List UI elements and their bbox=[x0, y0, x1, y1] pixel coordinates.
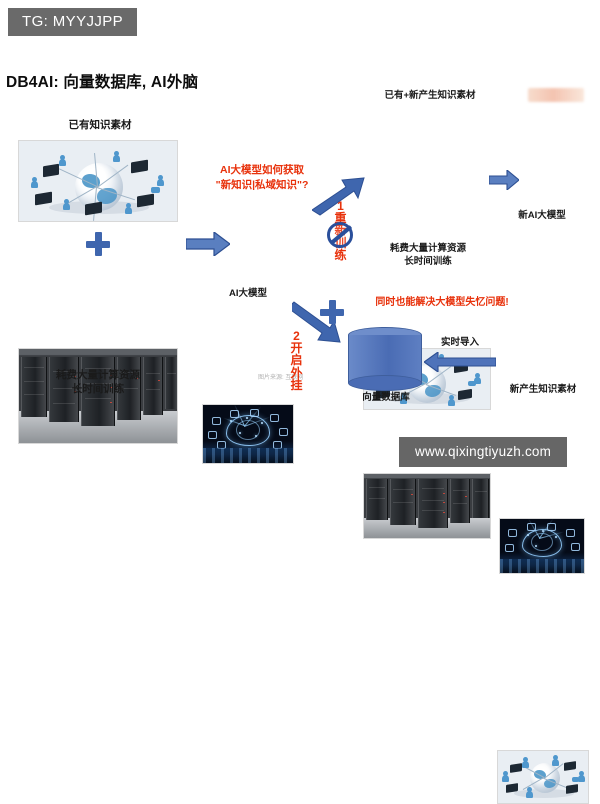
left-top-caption: 已有知识素材 bbox=[20, 118, 180, 132]
branch2-plus-symbol bbox=[320, 300, 344, 324]
left-bottom-caption: 耗费大量计算资源 长时间训练 bbox=[8, 368, 188, 396]
retrain-char-4: 练 bbox=[333, 249, 348, 261]
ai-brain-network-photo bbox=[202, 404, 294, 464]
new-ai-model-caption: 新AI大模型 bbox=[494, 210, 590, 223]
new-knowledge-network-photo bbox=[497, 750, 589, 804]
plugin-vertical-label: 2 开 启 外 挂 bbox=[289, 330, 304, 391]
arrow-left-realtime-import bbox=[424, 352, 496, 372]
branch1-top-caption: 已有+新产生知识素材 bbox=[340, 90, 520, 103]
ai-model-caption: AI大模型 bbox=[202, 288, 294, 301]
arrow-right-to-new-ai-model bbox=[489, 170, 519, 190]
slide-canvas: TG: MYYJJPP DB4AI: 向量数据库, AI外脑 已有知识素材 bbox=[0, 0, 600, 480]
branch1-server-photo bbox=[363, 473, 491, 539]
left-plus-symbol bbox=[86, 232, 110, 256]
top-right-watermark-blur bbox=[528, 88, 584, 102]
page-title: DB4AI: 向量数据库, AI外脑 bbox=[6, 70, 198, 92]
vector-database-cylinder bbox=[348, 327, 422, 391]
plugin-char-4: 挂 bbox=[289, 379, 304, 391]
memory-problem-note: 同时也能解决大模型失忆问题! bbox=[352, 296, 532, 311]
no-entry-icon bbox=[327, 222, 353, 248]
new-ai-brain-network-photo bbox=[499, 518, 585, 574]
arrow-right-to-ai-model bbox=[186, 232, 230, 256]
branch1-cost-caption: 耗费大量计算资源 长时间训练 bbox=[355, 243, 501, 269]
vector-database-caption: 向量数据库 bbox=[340, 392, 432, 405]
tg-watermark-banner: TG: MYYJJPP bbox=[8, 8, 137, 36]
realtime-import-label: 实时导入 bbox=[424, 337, 496, 350]
knowledge-network-globe-photo bbox=[18, 140, 178, 222]
new-knowledge-caption: 新产生知识素材 bbox=[490, 384, 596, 397]
plugin-char-2: 启 bbox=[289, 354, 304, 366]
url-watermark-banner: www.qixingtiyuzh.com bbox=[399, 437, 567, 467]
